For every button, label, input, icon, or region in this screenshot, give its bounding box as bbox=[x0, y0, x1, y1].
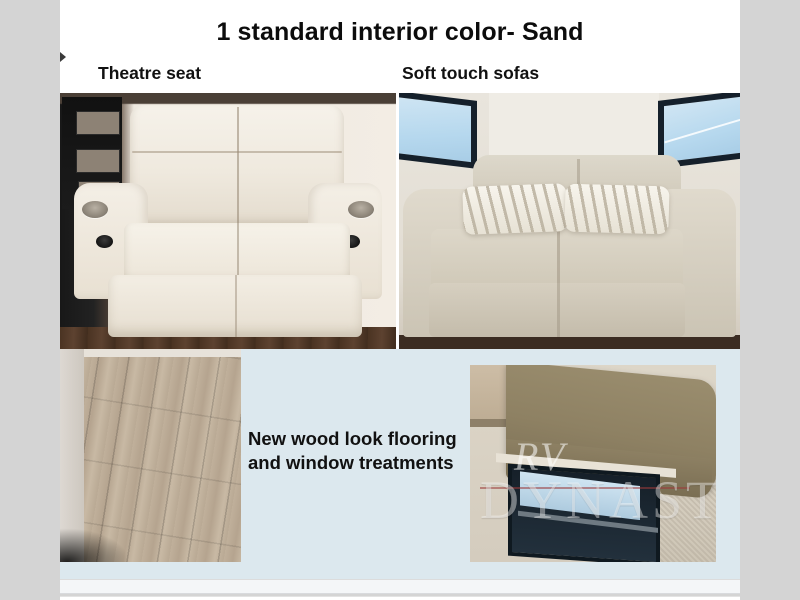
label-soft-touch-sofas: Soft touch sofas bbox=[402, 63, 539, 84]
photo-soft-touch-sofa bbox=[396, 93, 740, 349]
flooring-shadow bbox=[60, 528, 130, 562]
accent-pillow-left bbox=[462, 183, 568, 235]
rv-window bbox=[508, 464, 660, 562]
theatre-seat-backrest-crease bbox=[132, 151, 342, 153]
sofa-base bbox=[429, 283, 685, 337]
slide-stack-next[interactable] bbox=[60, 596, 740, 600]
window-left bbox=[396, 93, 477, 169]
theatre-seat-footrest bbox=[108, 275, 362, 337]
page-title: 1 standard interior color- Sand bbox=[60, 18, 740, 47]
cup-holder-icon bbox=[82, 201, 108, 218]
theatre-seat-body bbox=[74, 105, 382, 337]
photo-window-treatment: RV DYNASTY bbox=[470, 365, 716, 562]
accent-pillow-right bbox=[564, 184, 669, 235]
sofa-seat-cushion bbox=[431, 229, 683, 291]
lower-content-panel: New wood look flooring and window treatm… bbox=[60, 349, 740, 579]
caption-flooring: New wood look flooring and window treatm… bbox=[248, 427, 478, 474]
slide-stack-previous[interactable] bbox=[60, 579, 740, 594]
photo-wood-look-flooring bbox=[60, 349, 241, 562]
label-theatre-seat: Theatre seat bbox=[98, 63, 201, 84]
cup-holder-icon bbox=[348, 201, 374, 218]
window-accent-line bbox=[480, 487, 690, 489]
photo-theatre-seat bbox=[60, 93, 396, 349]
photo-row-top bbox=[60, 93, 740, 349]
slide-edge-marker-icon bbox=[60, 52, 66, 62]
power-button-icon bbox=[96, 235, 113, 248]
presentation-slide[interactable]: 1 standard interior color- Sand Theatre … bbox=[60, 0, 740, 579]
flooring-top-trim bbox=[84, 349, 241, 357]
background-floor bbox=[399, 335, 740, 349]
theatre-seat-cushion bbox=[124, 223, 350, 283]
